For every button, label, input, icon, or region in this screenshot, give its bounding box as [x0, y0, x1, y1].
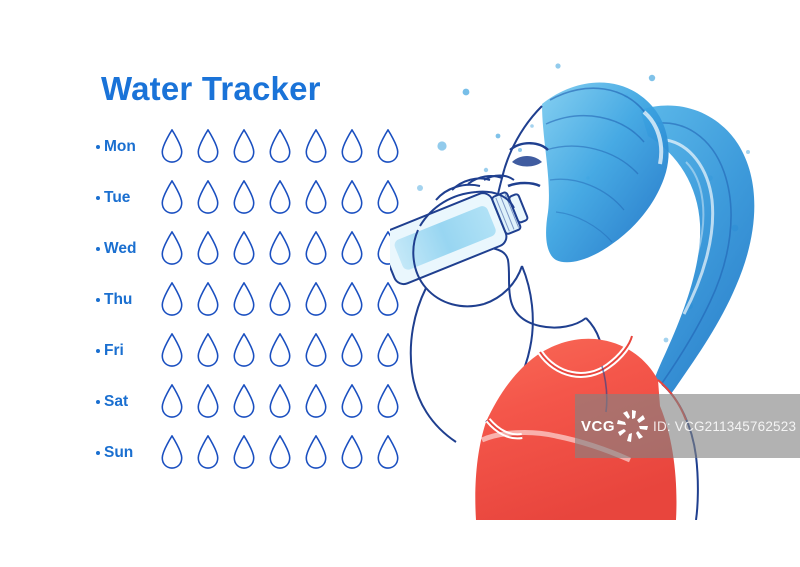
day-label-text: Sun — [104, 444, 133, 462]
day-label-thu: Thu — [96, 291, 160, 309]
water-drop-checkbox[interactable] — [268, 180, 292, 215]
day-label-text: Mon — [104, 138, 136, 156]
water-drop-checkbox[interactable] — [304, 231, 328, 266]
water-drop-checkbox[interactable] — [340, 384, 364, 419]
water-drop-checkbox[interactable] — [268, 333, 292, 368]
bullet-icon — [96, 145, 100, 149]
water-drop-checkbox[interactable] — [196, 282, 220, 317]
water-drop-checkbox[interactable] — [232, 333, 256, 368]
water-tracker-page: Water Tracker Mon Tue Wed — [0, 0, 800, 567]
water-drop-checkbox[interactable] — [160, 435, 184, 470]
water-drop-checkbox[interactable] — [232, 231, 256, 266]
water-drop-checkbox[interactable] — [268, 129, 292, 164]
day-label-wed: Wed — [96, 240, 160, 258]
hair — [542, 82, 669, 262]
water-drop-checkbox[interactable] — [304, 180, 328, 215]
water-drop-checkbox[interactable] — [160, 282, 184, 317]
drop-row-sun — [160, 435, 412, 470]
drop-row-tue — [160, 180, 412, 215]
tracker-row-fri: Fri — [96, 325, 412, 376]
tracker-row-sun: Sun — [96, 427, 412, 478]
day-label-text: Sat — [104, 393, 128, 411]
tracker-row-wed: Wed — [96, 223, 412, 274]
water-drop-checkbox[interactable] — [340, 435, 364, 470]
bullet-icon — [96, 451, 100, 455]
water-drop-checkbox[interactable] — [196, 129, 220, 164]
day-label-mon: Mon — [96, 138, 160, 156]
water-drop-checkbox[interactable] — [304, 435, 328, 470]
water-drop-checkbox[interactable] — [340, 129, 364, 164]
water-drop-checkbox[interactable] — [268, 435, 292, 470]
water-drop-checkbox[interactable] — [268, 231, 292, 266]
water-drop-checkbox[interactable] — [268, 384, 292, 419]
day-label-sat: Sat — [96, 393, 160, 411]
water-drop-checkbox[interactable] — [232, 384, 256, 419]
water-drop-checkbox[interactable] — [304, 282, 328, 317]
drop-row-mon — [160, 129, 412, 164]
water-drop-checkbox[interactable] — [340, 180, 364, 215]
day-label-text: Fri — [104, 342, 124, 360]
day-label-text: Tue — [104, 189, 130, 207]
water-drop-checkbox[interactable] — [160, 129, 184, 164]
water-drop-checkbox[interactable] — [160, 333, 184, 368]
water-bottle — [390, 180, 534, 287]
water-drop-checkbox[interactable] — [268, 282, 292, 317]
water-drop-checkbox[interactable] — [196, 180, 220, 215]
water-drop-checkbox[interactable] — [232, 129, 256, 164]
eye — [512, 156, 542, 167]
drop-row-fri — [160, 333, 412, 368]
page-title: Water Tracker — [101, 70, 321, 108]
tracker-row-mon: Mon — [96, 121, 412, 172]
water-drop-checkbox[interactable] — [304, 384, 328, 419]
water-drop-checkbox[interactable] — [196, 384, 220, 419]
day-label-text: Thu — [104, 291, 132, 309]
day-label-text: Wed — [104, 240, 136, 258]
day-label-fri: Fri — [96, 342, 160, 360]
bullet-icon — [96, 196, 100, 200]
water-drop-checkbox[interactable] — [196, 333, 220, 368]
water-drop-checkbox[interactable] — [232, 180, 256, 215]
bullet-icon — [96, 349, 100, 353]
water-drop-checkbox[interactable] — [304, 129, 328, 164]
bullet-icon — [96, 247, 100, 251]
woman-drinking-water-illustration — [390, 40, 800, 520]
day-label-tue: Tue — [96, 189, 160, 207]
tracker-row-tue: Tue — [96, 172, 412, 223]
drop-row-sat — [160, 384, 412, 419]
water-drop-checkbox[interactable] — [232, 435, 256, 470]
water-drop-checkbox[interactable] — [340, 231, 364, 266]
water-drop-checkbox[interactable] — [304, 333, 328, 368]
bullet-icon — [96, 298, 100, 302]
drop-row-wed — [160, 231, 412, 266]
tracker-row-thu: Thu — [96, 274, 412, 325]
water-drop-checkbox[interactable] — [340, 282, 364, 317]
tracker-grid: Mon Tue Wed Thu — [96, 121, 412, 478]
water-drop-checkbox[interactable] — [232, 282, 256, 317]
drop-row-thu — [160, 282, 412, 317]
day-label-sun: Sun — [96, 444, 160, 462]
tracker-row-sat: Sat — [96, 376, 412, 427]
water-drop-checkbox[interactable] — [196, 231, 220, 266]
bullet-icon — [96, 400, 100, 404]
water-drop-checkbox[interactable] — [160, 180, 184, 215]
water-drop-checkbox[interactable] — [196, 435, 220, 470]
water-drop-checkbox[interactable] — [160, 231, 184, 266]
water-drop-checkbox[interactable] — [340, 333, 364, 368]
water-drop-checkbox[interactable] — [160, 384, 184, 419]
eyebrow — [510, 143, 548, 150]
